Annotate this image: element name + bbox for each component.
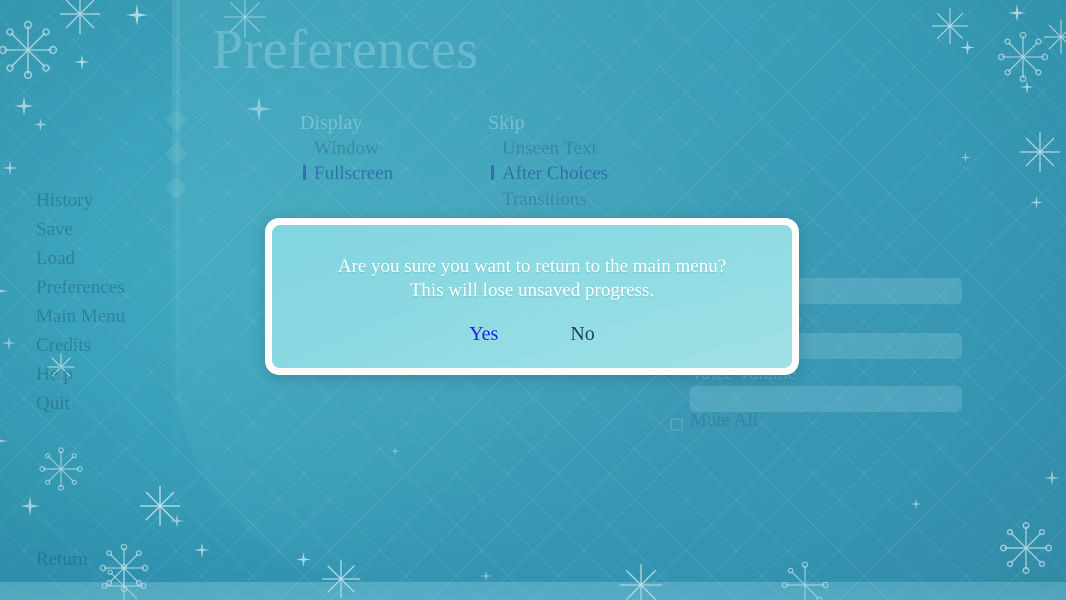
game-screen: Preferences Display Window Fullscreen Sk… [0, 0, 1066, 600]
vignette-overlay [0, 0, 1066, 600]
bottom-bar [0, 582, 1066, 600]
